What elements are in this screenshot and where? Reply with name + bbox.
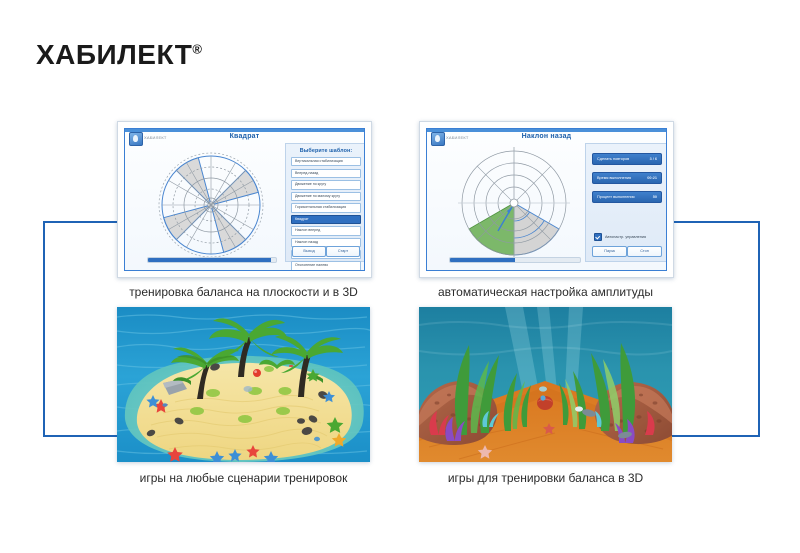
stat-row-percent: Процент выполнения 50 [592,191,662,203]
registered-mark: ® [192,42,202,57]
stop-button[interactable]: Стоп [627,246,662,257]
balance-wheel-svg [147,145,275,265]
balance-wheel-chart[interactable] [147,145,275,265]
caption-bottom-left: игры на любые сценарии тренировок [117,471,370,485]
template-pane-title: Выберите шаблон: [286,148,365,154]
pane-button-row: Пауза Стоп [586,246,667,257]
pane-button-row: Выход Старт [286,246,365,257]
start-button[interactable]: Старт [326,246,360,257]
island-scene-svg [117,307,370,462]
island-game-screenshot[interactable] [117,307,370,462]
list-item[interactable]: Вперед-назад [291,169,361,178]
auto-control-checkbox-row[interactable]: Автонастр. управления [594,233,646,241]
checkbox-icon[interactable] [594,233,602,241]
session-progress-fill [148,258,271,262]
template-side-pane: Выберите шаблон: Вертикальная стабилизац… [285,143,365,262]
amplitude-polar-svg [449,143,579,265]
page-title: Квадрат [125,133,364,140]
caption-top-right: автоматическая настройка амплитуды [419,285,672,299]
list-item[interactable]: Горизонтальная стабилизация [291,203,361,212]
list-item-selected[interactable]: Квадрат [291,215,361,224]
stat-label: Сделать повторов [597,154,629,164]
list-item[interactable]: Вертикальная стабилизация [291,157,361,166]
stat-value: 50 [653,192,657,202]
session-progress-bar [449,257,581,263]
stat-label: Время выполнения [597,173,631,183]
brand-name: ХАБИЛЕКТ [36,39,192,70]
stat-label: Процент выполнения [597,192,635,202]
amplitude-panel: ХАБИЛЕКТ Наклон назад [419,121,674,278]
underwater-game-screenshot[interactable] [419,307,672,462]
caption-bottom-right: игры для тренировки баланса в 3D [419,471,672,485]
brand-logo: ХАБИЛЕКТ® [36,41,202,69]
checkbox-label: Автонастр. управления [605,235,646,239]
list-item[interactable]: Движение по кругу [291,180,361,189]
amplitude-polar-chart[interactable] [449,143,579,265]
stat-value: 3 / 6 [650,154,657,164]
stat-row-time: Время выполнения 00:21 [592,172,662,184]
stats-side-pane: Сделать повторов 3 / 6 Время выполнения … [585,143,667,262]
list-item[interactable]: Движение по малому кругу [291,192,361,201]
stat-row-repetitions: Сделать повторов 3 / 6 [592,153,662,165]
panel-inner: ХАБИЛЕКТ Наклон назад [426,128,667,271]
collectible [539,386,547,391]
panel-inner: ХАБИЛЕКТ Квадрат [124,128,365,271]
pause-button[interactable]: Пауза [592,246,627,257]
balance-template-panel: ХАБИЛЕКТ Квадрат [117,121,372,278]
list-item[interactable]: Наклон вперед [291,226,361,235]
session-progress-fill [450,258,515,262]
exit-button[interactable]: Выход [292,246,326,257]
underwater-scene-svg [419,307,672,462]
poster-stage: ХАБИЛЕКТ® ХАБИЛЕКТ Квадрат [0,0,800,553]
page-title: Наклон назад [427,133,666,140]
session-progress-bar [147,257,277,263]
caption-top-left: тренировка баланса на плоскости и в 3D [117,285,370,299]
list-item[interactable]: Отклонение налево [291,261,361,270]
panel-top-strip [427,129,666,132]
game-ball [253,369,261,377]
panel-top-strip [125,129,364,132]
stat-value: 00:21 [647,173,657,183]
